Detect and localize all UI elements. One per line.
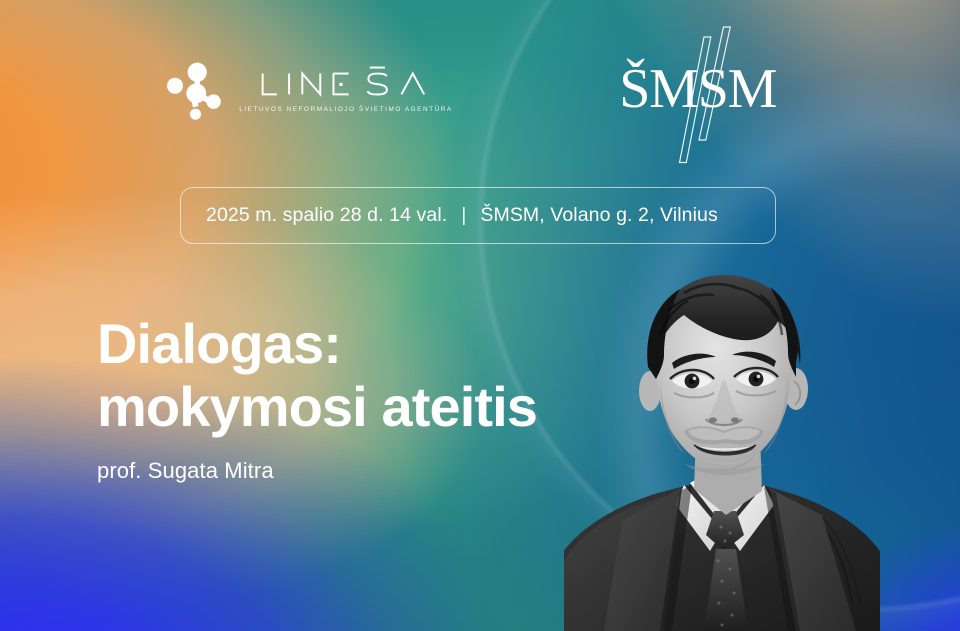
headline-line-2: mokymosi ateitis [97, 376, 617, 439]
linesa-text-block: LIETUVOS NEFORMALIOJO ŠVIETIMO AGENTŪRA [239, 66, 453, 113]
molecule-node-icon [167, 58, 223, 120]
headline-block: Dialogas: mokymosi ateitis prof. Sugata … [97, 313, 617, 484]
linesa-wordmark [239, 66, 453, 100]
headline-line-1: Dialogas: [97, 313, 617, 376]
page-title: Dialogas: mokymosi ateitis [97, 313, 617, 438]
speaker-name: prof. Sugata Mitra [97, 458, 617, 484]
portrait-illustration [564, 259, 880, 631]
linesa-logo[interactable]: LIETUVOS NEFORMALIOJO ŠVIETIMO AGENTŪRA [167, 58, 453, 120]
smsm-wordmark: ŠMSM [619, 61, 776, 117]
event-venue: ŠMSM, Volano g. 2, Vilnius [480, 204, 717, 227]
speaker-portrait [564, 259, 880, 631]
linesa-tagline: LIETUVOS NEFORMALIOJO ŠVIETIMO AGENTŪRA [239, 106, 453, 113]
smsm-logo[interactable]: ŠMSM [603, 24, 793, 154]
poster-canvas: LIETUVOS NEFORMALIOJO ŠVIETIMO AGENTŪRA … [0, 0, 960, 631]
event-datetime: 2025 m. spalio 28 d. 14 val. [206, 204, 447, 227]
event-details-bar: 2025 m. spalio 28 d. 14 val. | ŠMSM, Vol… [180, 187, 776, 244]
details-separator: | [447, 204, 480, 227]
